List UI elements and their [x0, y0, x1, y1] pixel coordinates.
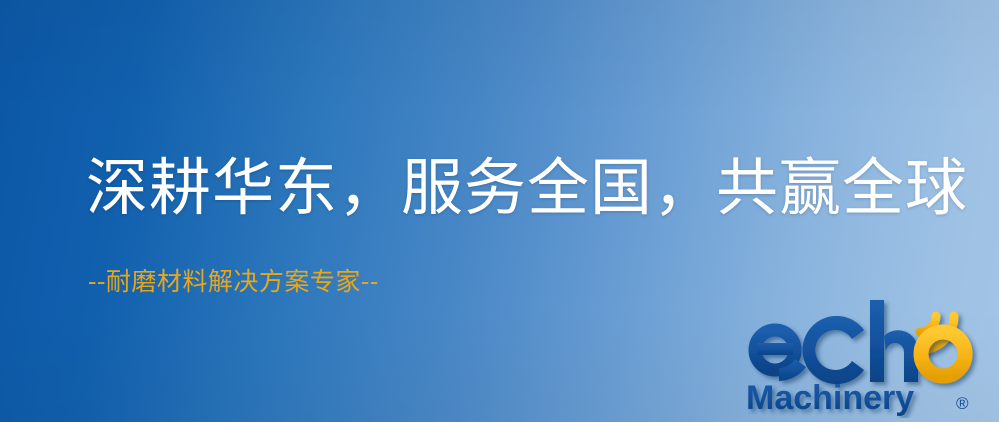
- echo-machinery-logo: Machinery ®: [744, 292, 996, 418]
- logo-registered-mark: ®: [956, 394, 969, 413]
- logo-svg: Machinery ®: [744, 292, 996, 418]
- hero-banner: 深耕华东，服务全国，共赢全球 --耐磨材料解决方案专家--: [0, 0, 999, 422]
- banner-headline: 深耕华东，服务全国，共赢全球: [86, 150, 968, 226]
- logo-wordmark-echo: [751, 300, 918, 384]
- logo-letter-o: [921, 332, 965, 376]
- banner-subtitle: --耐磨材料解决方案专家--: [88, 266, 379, 298]
- logo-tagline: Machinery: [746, 379, 914, 417]
